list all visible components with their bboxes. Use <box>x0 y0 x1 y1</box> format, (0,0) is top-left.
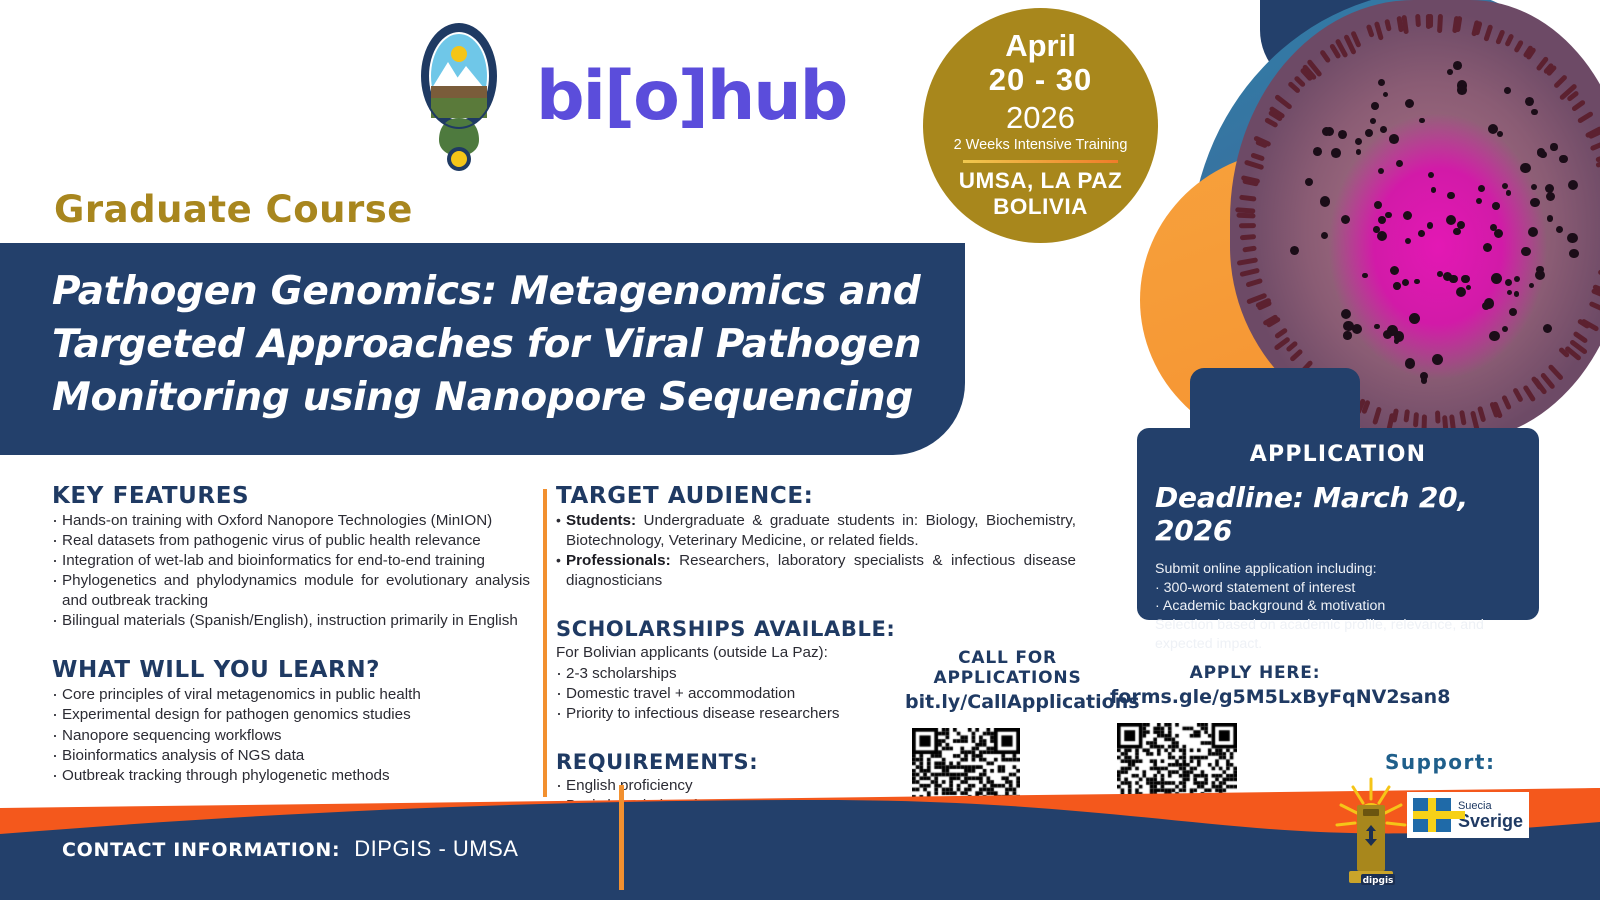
virus-dot <box>1514 276 1520 282</box>
virus-spike <box>1404 409 1411 422</box>
virus-spike <box>1413 412 1419 427</box>
virus-spike <box>1553 74 1568 89</box>
sverige-logo: Suecia Sverige <box>1407 792 1529 838</box>
list-item: Students: Undergraduate & graduate stude… <box>556 511 1076 551</box>
virus-dot <box>1370 118 1376 124</box>
virus-dot <box>1365 129 1373 137</box>
list-item: Bilingual materials (Spanish/English), i… <box>52 611 530 631</box>
virus-spike <box>1483 24 1493 42</box>
left-column: KEY FEATURES Hands-on training with Oxfo… <box>52 483 530 786</box>
application-bullet: Academic background & motivation <box>1155 597 1521 616</box>
contact-value: DIPGIS - UMSA <box>354 836 518 862</box>
virus-dot <box>1320 196 1330 206</box>
column-divider <box>543 489 547 797</box>
virus-dot <box>1390 266 1399 275</box>
dipgis-caption: dipgis <box>1363 876 1394 886</box>
qr-url[interactable]: bit.ly/CallApplications <box>905 691 1110 713</box>
logo-row: bi[o]hub <box>420 18 846 176</box>
poster-root: bi[o]hub April 20 - 30 2026 2 Weeks Inte… <box>0 0 1600 900</box>
virus-dot <box>1447 69 1453 75</box>
virus-dot <box>1378 168 1385 175</box>
virus-spike <box>1372 407 1382 425</box>
date-city: UMSA, LA PAZ <box>959 167 1123 194</box>
dipgis-logo: dipgis <box>1333 775 1409 890</box>
contact-information: CONTACT INFORMATION: DIPGIS - UMSA <box>62 836 518 862</box>
virus-dot <box>1374 324 1379 329</box>
list-item: Experimental design for pathogen genomic… <box>52 705 530 725</box>
application-deadline: Deadline: March 20, 2026 <box>1155 481 1521 547</box>
virus-dot <box>1520 163 1530 173</box>
virus-dot <box>1456 287 1467 298</box>
application-note: Selection based on academic profile, rel… <box>1155 616 1521 653</box>
virus-spike <box>1578 111 1595 124</box>
virus-spike <box>1240 268 1261 277</box>
title-line-2: Targeted Approaches for Viral Pathogen <box>52 318 925 371</box>
date-country: BOLIVIA <box>993 194 1088 220</box>
virus-dot <box>1409 313 1420 324</box>
virus-dot <box>1506 190 1511 195</box>
virus-dot <box>1453 61 1462 70</box>
application-panel: APPLICATION Deadline: March 20, 2026 Sub… <box>1137 428 1539 620</box>
date-badge: April 20 - 30 2026 2 Weeks Intensive Tra… <box>923 8 1158 243</box>
virus-dot <box>1521 247 1531 257</box>
audience-label: Professionals: <box>566 552 671 569</box>
virus-dot <box>1419 118 1424 123</box>
virus-dot <box>1371 102 1379 110</box>
virus-dot <box>1449 275 1458 284</box>
virus-dot <box>1321 232 1328 239</box>
virus-dot <box>1550 143 1557 150</box>
list-item: Nanopore sequencing workflows <box>52 726 530 746</box>
virus-spike <box>1237 257 1258 266</box>
sverige-line1: Suecia <box>1458 800 1523 812</box>
virus-dot <box>1492 202 1500 210</box>
virus-dot <box>1497 131 1503 137</box>
virus-dot <box>1567 233 1578 244</box>
virus-dot <box>1362 273 1368 279</box>
virus-spike <box>1512 388 1523 403</box>
virus-spike <box>1588 301 1600 313</box>
sweden-flag-icon <box>1413 798 1451 832</box>
virus-spike <box>1477 406 1486 423</box>
sverige-line2: Sverige <box>1458 812 1523 831</box>
virus-dot <box>1437 271 1443 277</box>
virus-dot <box>1405 238 1411 244</box>
virus-dot <box>1313 147 1322 156</box>
virus-dot <box>1421 377 1428 384</box>
virus-dot <box>1322 127 1331 136</box>
virus-dot <box>1447 192 1455 200</box>
list-item: Integration of wet-lab and bioinformatic… <box>52 551 530 571</box>
application-bullet: 300-word statement of interest <box>1155 579 1521 598</box>
virus-dot <box>1385 212 1392 219</box>
virus-dot <box>1556 226 1563 233</box>
virus-dot <box>1559 155 1567 163</box>
virus-dot <box>1356 149 1362 155</box>
virus-spike <box>1571 99 1586 112</box>
virus-dot <box>1427 222 1433 228</box>
virus-spike <box>1455 16 1462 32</box>
virus-spike <box>1243 245 1258 252</box>
virus-dot <box>1343 331 1351 339</box>
target-audience-heading: TARGET AUDIENCE: <box>556 483 1076 509</box>
qr-url[interactable]: forms.gle/g5M5LxByFqNV2san8 <box>1110 686 1400 708</box>
virus-dot <box>1378 216 1386 224</box>
date-subtitle: 2 Weeks Intensive Training <box>954 136 1128 155</box>
virus-spike <box>1415 14 1421 28</box>
virus-dot <box>1331 148 1341 158</box>
footer-accent-bar <box>619 785 624 890</box>
virus-spike <box>1366 24 1375 38</box>
virus-spike <box>1373 21 1383 41</box>
virus-dot <box>1531 184 1537 190</box>
virus-spike <box>1522 385 1536 403</box>
virus-dot <box>1543 324 1553 334</box>
virus-dot <box>1373 226 1380 233</box>
audience-text: Undergraduate & graduate students in: Bi… <box>566 512 1076 549</box>
list-item: Professionals: Researchers, laboratory s… <box>556 551 1076 591</box>
virus-dot <box>1405 358 1415 368</box>
support-label: Support: <box>1385 750 1495 774</box>
virus-dot <box>1528 227 1538 237</box>
virus-spike <box>1401 15 1409 35</box>
virus-dot <box>1491 273 1502 284</box>
virus-dot <box>1394 338 1400 344</box>
virus-spike <box>1459 410 1467 426</box>
virus-dot <box>1355 138 1362 145</box>
virus-dot <box>1374 201 1382 209</box>
virus-dot <box>1530 198 1540 208</box>
scholarships-heading: SCHOLARSHIPS AVAILABLE: <box>556 617 1076 641</box>
virus-spike <box>1428 14 1433 28</box>
virus-dot <box>1483 243 1492 252</box>
virus-dot <box>1507 290 1512 295</box>
virus-spike <box>1590 140 1600 152</box>
virus-dot <box>1514 291 1519 296</box>
list-item: Hands-on training with Oxford Nanopore T… <box>52 511 530 531</box>
virus-dot <box>1505 279 1512 286</box>
title-banner: Pathogen Genomics: Metagenomics and Targ… <box>0 243 965 455</box>
virus-dot <box>1305 178 1313 186</box>
virus-dot <box>1402 279 1409 286</box>
virus-spike <box>1319 50 1331 65</box>
what-learn-heading: WHAT WILL YOU LEARN? <box>52 657 530 683</box>
virus-spike <box>1244 159 1264 170</box>
virus-spike <box>1246 278 1264 288</box>
virus-spike <box>1289 349 1303 363</box>
virus-dot <box>1343 321 1353 331</box>
qr-label-line1: APPLY HERE: <box>1110 663 1400 683</box>
virus-dot <box>1431 187 1436 192</box>
virus-dot <box>1478 185 1485 192</box>
virus-dot <box>1338 130 1347 139</box>
application-title: APPLICATION <box>1155 442 1521 467</box>
virus-dot <box>1509 308 1518 317</box>
virus-dot <box>1405 99 1414 108</box>
virus-dot <box>1446 215 1456 225</box>
virus-dot <box>1494 229 1504 239</box>
date-divider <box>963 160 1118 163</box>
list-item: Phylogenetics and phylodynamics module f… <box>52 571 530 611</box>
virus-spike <box>1250 152 1265 161</box>
list-item: Bioinformatics analysis of NGS data <box>52 746 530 766</box>
virus-spike <box>1504 33 1514 47</box>
list-item: Core principles of viral metagenomics in… <box>52 685 530 705</box>
virus-spike <box>1239 195 1257 202</box>
virus-dot <box>1378 79 1385 86</box>
virus-spike <box>1591 288 1600 297</box>
virus-spike <box>1274 94 1293 110</box>
virus-spike <box>1495 29 1505 45</box>
qr-label-line1: CALL FOR <box>905 648 1110 668</box>
virus-spike <box>1514 39 1525 53</box>
virus-spike <box>1239 223 1256 228</box>
key-features-heading: KEY FEATURES <box>52 483 530 509</box>
contact-label: CONTACT INFORMATION: <box>62 839 340 861</box>
virus-dot <box>1525 97 1534 106</box>
virus-dot <box>1535 270 1545 280</box>
title-line-1: Pathogen Genomics: Metagenomics and <box>52 265 925 318</box>
date-year: 2026 <box>1006 100 1075 136</box>
virus-spike <box>1547 364 1563 381</box>
virus-dot <box>1453 228 1460 235</box>
audience-label: Students: <box>566 512 636 529</box>
virus-spike <box>1384 19 1392 32</box>
virus-dot <box>1428 172 1434 178</box>
virus-dot <box>1341 309 1351 319</box>
application-intro: Submit online application including: <box>1155 560 1521 579</box>
virus-dot <box>1414 279 1420 285</box>
virus-dot <box>1529 283 1534 288</box>
virus-dot <box>1537 148 1545 156</box>
qr-label-line2: APPLICATIONS <box>905 668 1110 688</box>
date-month: April <box>1005 30 1076 61</box>
virus-dot <box>1432 354 1443 365</box>
virus-dot <box>1504 87 1511 94</box>
biohub-logo: bi[o]hub <box>536 63 846 131</box>
title-line-3: Monitoring using Nanopore Sequencing <box>52 371 925 424</box>
virus-dot <box>1476 198 1482 204</box>
date-days: 20 - 30 <box>989 61 1093 100</box>
list-item: Real datasets from pathogenic virus of p… <box>52 531 530 551</box>
virus-dot <box>1502 183 1508 189</box>
kicker-graduate-course: Graduate Course <box>54 188 413 231</box>
virus-dot <box>1396 160 1403 167</box>
decorative-artwork <box>1130 0 1600 450</box>
virus-dot <box>1290 246 1299 255</box>
target-audience-list: Students: Undergraduate & graduate stude… <box>556 511 1076 591</box>
virus-dot <box>1531 109 1537 115</box>
virus-dot <box>1380 126 1387 133</box>
virus-dot <box>1488 124 1498 134</box>
virus-dot <box>1418 230 1425 237</box>
virus-dot <box>1568 180 1578 190</box>
application-body: Submit online application including: 300… <box>1155 560 1521 654</box>
virus-dot <box>1341 215 1350 224</box>
virus-dot <box>1502 326 1509 333</box>
key-features-list: Hands-on training with Oxford Nanopore T… <box>52 511 530 631</box>
virus-dot <box>1461 275 1470 284</box>
virus-dot <box>1383 330 1392 339</box>
virus-spike <box>1437 14 1443 33</box>
virus-dot <box>1466 285 1471 290</box>
virus-spike <box>1435 411 1441 424</box>
virus-dot <box>1569 249 1578 258</box>
virus-dot <box>1457 85 1467 95</box>
virus-dot <box>1383 92 1388 97</box>
umsa-seal-logo <box>420 18 498 176</box>
virus-spike <box>1240 234 1256 240</box>
virus-spike <box>1501 394 1512 410</box>
virus-dot <box>1389 134 1399 144</box>
virus-dot <box>1352 324 1362 334</box>
virus-dot <box>1403 211 1412 220</box>
virus-dot <box>1489 331 1500 342</box>
virus-dot <box>1393 282 1401 290</box>
virus-dot <box>1547 215 1553 221</box>
